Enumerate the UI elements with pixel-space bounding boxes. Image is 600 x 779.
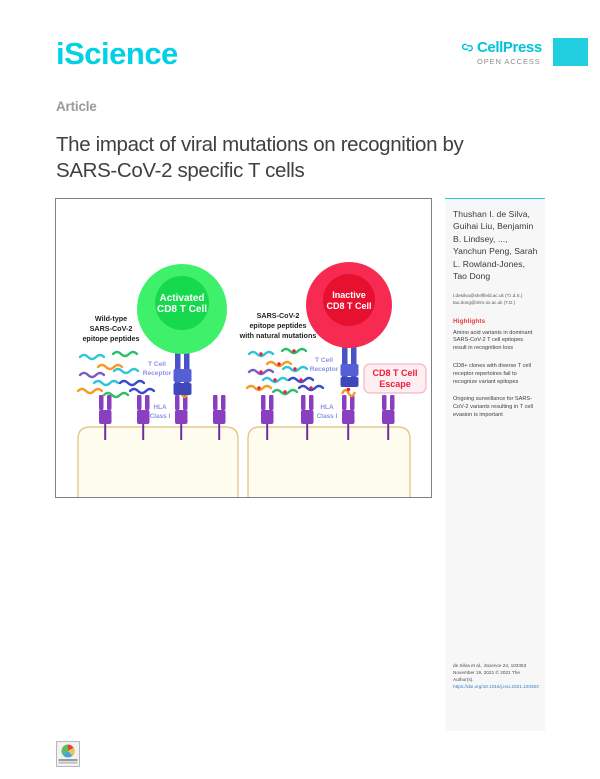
t-cell-receptor-right xyxy=(341,344,359,387)
brand-color-swatch xyxy=(553,38,588,66)
highlight-item: Ongoing surveillance for SARS-CoV-2 vari… xyxy=(453,396,538,419)
hla-label-right-1: HLA xyxy=(320,404,334,411)
crossmark-badge[interactable] xyxy=(56,741,80,767)
author-list: Thushan I. de Silva, Guihai Liu, Benjami… xyxy=(453,208,538,282)
doi-link[interactable]: https://doi.org/10.1016/j.isci.2021.1033… xyxy=(453,684,539,691)
escape-label-2: Escape xyxy=(379,379,411,389)
highlight-item: Amino acid variants in dominant SARS-CoV… xyxy=(453,330,538,353)
t-cell-receptor-left xyxy=(174,349,192,395)
open-access-label: OPEN ACCESS xyxy=(477,57,544,66)
inactive-cell-label-2: CD8 T Cell xyxy=(326,301,371,311)
email-1[interactable]: tao.dong@imm.ox.ac.uk (T.D.) xyxy=(453,300,538,307)
tcr-label-right-2: Receptor xyxy=(310,366,339,373)
cellpress-logo: CellPress OPEN ACCESS xyxy=(461,40,544,70)
mutant-peptides-label-1: SARS-CoV-2 xyxy=(257,311,300,320)
inactive-cd8-t-cell: Inactive CD8 T Cell xyxy=(306,262,392,348)
tcr-label-left-1: T Cell xyxy=(148,361,166,368)
hla-label-left-1: HLA xyxy=(153,404,167,411)
article-sidebar: Thushan I. de Silva, Guihai Liu, Benjami… xyxy=(445,198,545,731)
wildtype-peptides-label-1: Wild-type xyxy=(95,314,127,323)
crossmark-check-for-updates-icon xyxy=(56,741,80,767)
inactive-cell-label-1: Inactive xyxy=(332,290,366,300)
article-type-kicker: Article xyxy=(56,99,97,114)
page-header: iScience CellPress OPEN ACCESS xyxy=(0,0,600,95)
cellpress-wordmark: CellPress xyxy=(477,40,542,55)
wildtype-peptides-label-2: SARS-CoV-2 xyxy=(90,324,133,333)
journal-logo: iScience xyxy=(56,36,178,72)
citation-block: de Silva et al., iScience 24, 103353 Nov… xyxy=(453,663,539,691)
hla-label-right-2: Class I xyxy=(317,413,338,420)
page-title: The impact of viral mutations on recogni… xyxy=(56,132,486,184)
citation-text: de Silva et al., iScience 24, 103353 Nov… xyxy=(453,663,526,681)
bound-mutant-peptide-right xyxy=(343,388,355,396)
cd8-escape-callout: CD8 T Cell Escape xyxy=(364,364,426,393)
mutant-peptides-label-2: epitope peptides xyxy=(249,321,306,330)
wildtype-peptides-label-3: epitope peptides xyxy=(82,334,139,343)
apc-membrane-right xyxy=(248,427,410,497)
activated-cell-label-2: CD8 T Cell xyxy=(157,304,207,315)
graphical-abstract-svg: Activated CD8 T Cell Wild-type SARS-CoV-… xyxy=(56,199,431,497)
graphical-abstract-figure: Activated CD8 T Cell Wild-type SARS-CoV-… xyxy=(55,198,432,498)
escape-label-1: CD8 T Cell xyxy=(372,368,417,378)
apc-membrane-left xyxy=(78,427,238,497)
highlight-item: CD8+ clones with diverse T cell receptor… xyxy=(453,363,538,386)
tcr-label-right-1: T Cell xyxy=(315,357,333,364)
activated-cd8-t-cell: Activated CD8 T Cell xyxy=(137,264,227,354)
highlights-heading: Highlights xyxy=(453,318,538,325)
tcr-label-left-2: Receptor xyxy=(143,370,172,377)
hla-label-left-2: Class I xyxy=(150,413,171,420)
cellpress-link-icon xyxy=(461,41,474,54)
correspondence-emails: t.desilva@sheffield.ac.uk (T.I.d.S.) tao… xyxy=(453,293,538,306)
mutant-peptides-label-3: with natural mutations xyxy=(239,331,317,340)
activated-cell-label-1: Activated xyxy=(159,293,204,304)
email-0[interactable]: t.desilva@sheffield.ac.uk (T.I.d.S.) xyxy=(453,293,538,300)
